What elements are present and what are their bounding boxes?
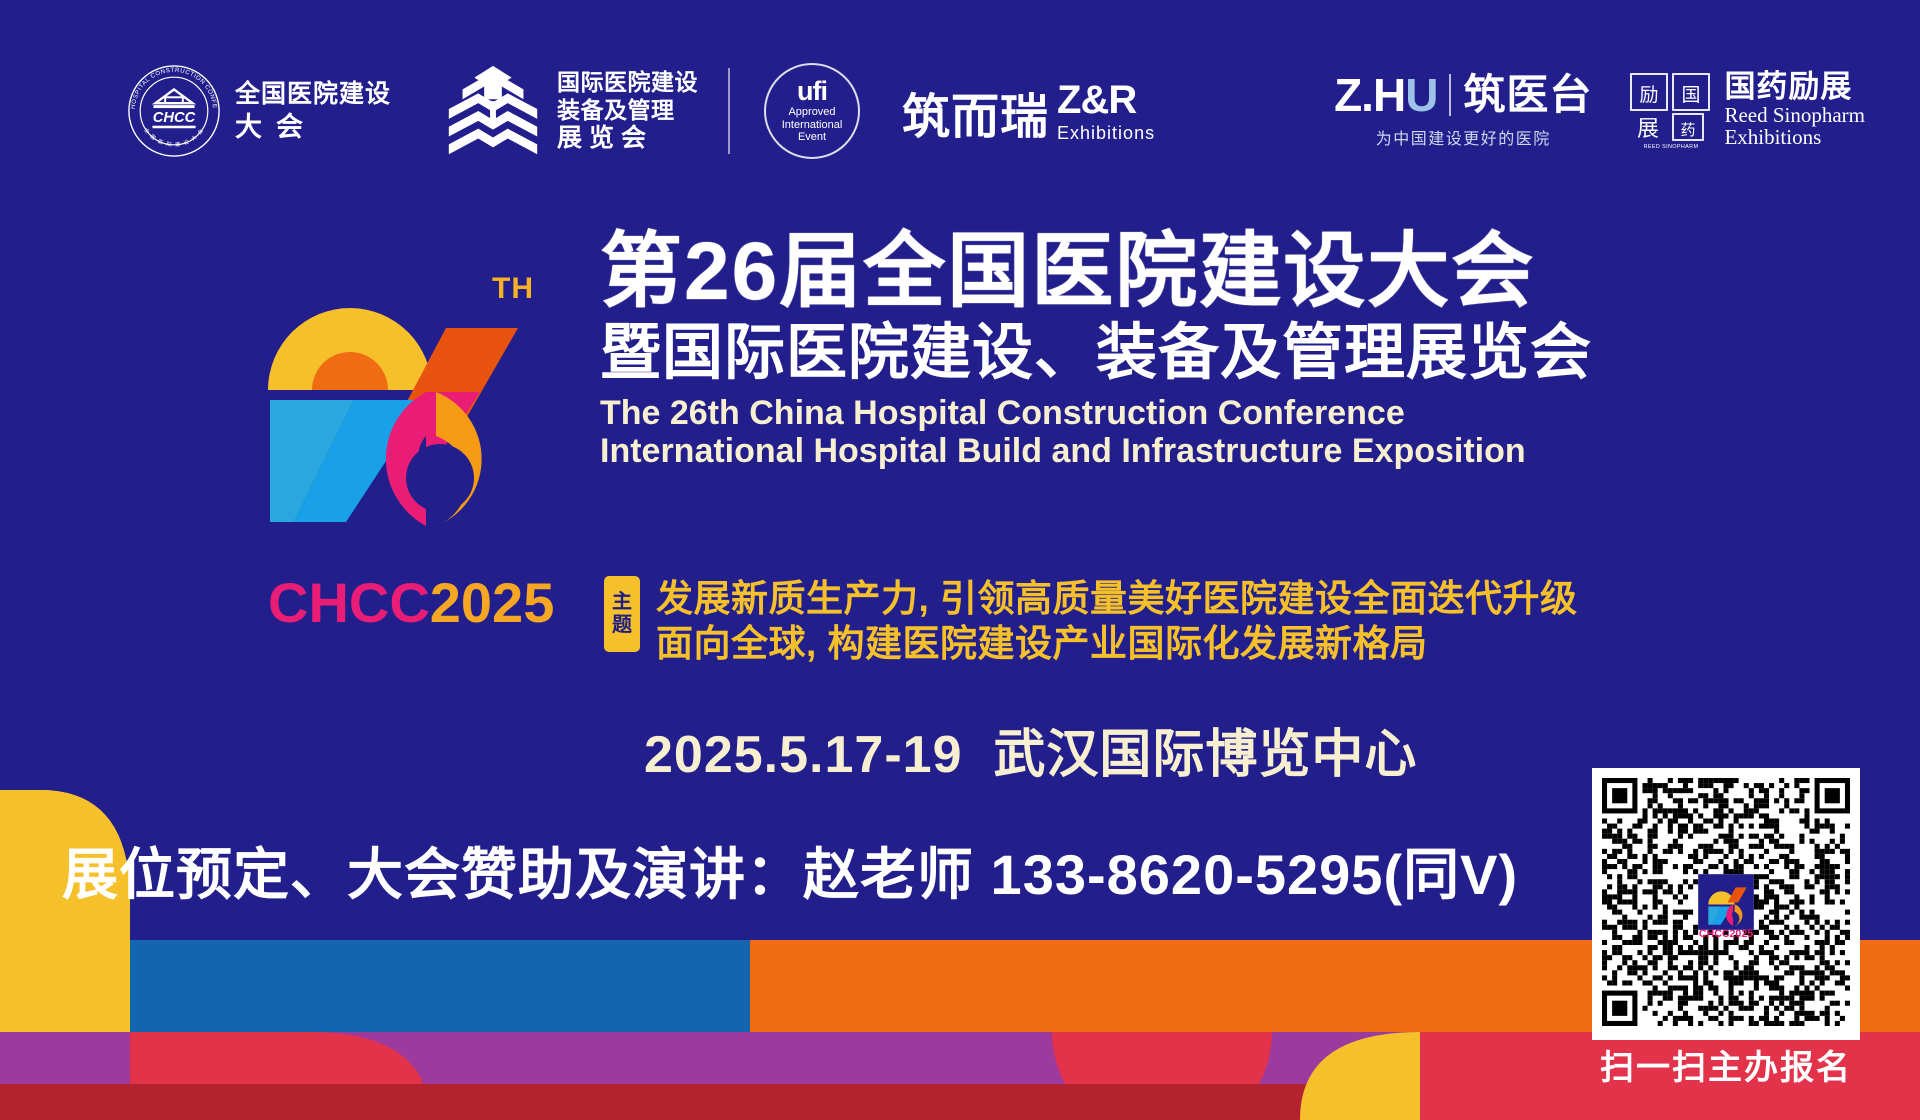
zhu-cn-name: 筑医台 (1463, 74, 1592, 116)
svg-text:CHCC2025: CHCC2025 (1699, 928, 1753, 940)
expo-logo-line2: 装备及管理 (557, 98, 698, 123)
expo-logo-line1: 国际医院建设 (557, 70, 698, 95)
chcc-logo-text: 全国医院建设 大会 (235, 81, 391, 142)
reed-sinopharm-seal-icon: 励 国 药 展 REED SINOPHARM (1628, 70, 1714, 150)
organizer-logos-right: Z.HU 筑医台 为中国建设更好的医院 励 (1334, 70, 1865, 150)
zr-cn-name: 筑而瑞 (902, 94, 1049, 142)
expo-logo-line3: 展览会 (557, 125, 698, 152)
event-venue: 武汉国际博览中心 (993, 726, 1417, 784)
expo-building-icon (439, 63, 547, 159)
emblem-ordinal-suffix: TH (492, 272, 534, 306)
zr-en-main: Z&R (1057, 80, 1155, 120)
chcc-logo-line2: 大会 (235, 113, 391, 141)
ufi-line1: Approved (782, 106, 843, 119)
zhu-wordmark-zh: Z.H (1334, 69, 1405, 121)
svg-text:REED SINOPHARM: REED SINOPHARM (1644, 144, 1699, 150)
chcc-wordmark-prefix: CHCC (268, 571, 430, 634)
qr-code-icon[interactable]: CHCC2025 (1592, 768, 1860, 1040)
theme-badge-char2: 题 (612, 614, 632, 637)
chcc-logo-line1: 全国医院建设 (235, 81, 391, 107)
chcc-seal-icon: CHINA HOSPITAL CONSTRUCTION CONFERENCE 全… (125, 62, 223, 160)
reed-en-line2: Exhibitions (1724, 127, 1865, 149)
page-title-en-line2: International Hospital Build and Infrast… (600, 432, 1900, 470)
title-block: 第26届全国医院建设大会 暨国际医院建设、装备及管理展览会 The 26th C… (600, 230, 1900, 470)
svg-text:CHCC: CHCC (153, 110, 196, 126)
reed-en-line1: Reed Sinopharm (1724, 105, 1865, 127)
header-logo-strip: CHINA HOSPITAL CONSTRUCTION CONFERENCE 全… (0, 0, 1920, 200)
page-subtitle-cn: 暨国际医院建设、装备及管理展览会 (600, 320, 1900, 384)
reed-sinopharm-logo: 励 国 药 展 REED SINOPHARM 国药励展 Reed Sinopha… (1628, 70, 1865, 150)
chcc-wordmark: CHCC2025 (268, 570, 554, 635)
conference-theme: 主 题 发展新质生产力, 引领高质量美好医院建设全面迭代升级 面向全球, 构建医… (604, 576, 1578, 666)
event-date-venue: 2025.5.17-19 武汉国际博览中心 (644, 712, 1417, 787)
qr-code-matrix[interactable]: CHCC2025 (1602, 778, 1850, 1026)
theme-line1: 发展新质生产力, 引领高质量美好医院建设全面迭代升级 (656, 576, 1578, 621)
svg-text:励: 励 (1640, 84, 1659, 106)
zhu-divider (1449, 74, 1451, 116)
ufi-line3: Event (782, 131, 843, 144)
zhuyitai-logo: Z.HU 筑医台 为中国建设更好的医院 (1334, 72, 1592, 149)
svg-text:展: 展 (1637, 116, 1659, 141)
zhu-wordmark-u: U (1405, 69, 1437, 121)
event-date: 2025.5.17-19 (644, 726, 963, 784)
svg-text:全 国 医 院 建 设 大 会: 全 国 医 院 建 设 大 会 (142, 127, 205, 149)
page-title-cn: 第26届全国医院建设大会 (600, 230, 1900, 314)
ufi-wordmark: ufi (797, 78, 827, 105)
ufi-line2: International (782, 119, 843, 132)
svg-text:国: 国 (1682, 85, 1701, 106)
zhu-wordmark: Z.HU (1334, 72, 1437, 118)
theme-badge: 主 题 (604, 576, 640, 652)
contact-line: 展位预定、大会赞助及演讲：赵老师 133-8620-5295(同V) (62, 830, 1518, 911)
organizer-logos-left: CHINA HOSPITAL CONSTRUCTION CONFERENCE 全… (125, 62, 1155, 160)
reed-cn-name: 国药励展 (1724, 71, 1865, 103)
zhu-tagline: 为中国建设更好的医院 (1376, 125, 1551, 149)
zr-en-sub: Exhibitions (1057, 124, 1155, 142)
chcc-wordmark-year: 2025 (430, 571, 555, 634)
theme-line2: 面向全球, 构建医院建设产业国际化发展新格局 (656, 621, 1578, 666)
svg-text:药: 药 (1681, 122, 1696, 139)
zr-exhibitions-logo: 筑而瑞 Z&R Exhibitions (902, 80, 1155, 142)
page-title-en-line1: The 26th China Hospital Construction Con… (600, 394, 1900, 432)
qr-caption: 扫一扫主办报名 (1592, 1040, 1860, 1089)
expo-logo-text: 国际医院建设 装备及管理 展览会 (557, 70, 698, 153)
ufi-approved-icon: ufi Approved International Event (764, 63, 860, 159)
logo-divider (728, 68, 730, 154)
chcc-2025-promotional-banner: CHINA HOSPITAL CONSTRUCTION CONFERENCE 全… (0, 0, 1920, 1120)
theme-badge-char1: 主 (612, 591, 632, 614)
